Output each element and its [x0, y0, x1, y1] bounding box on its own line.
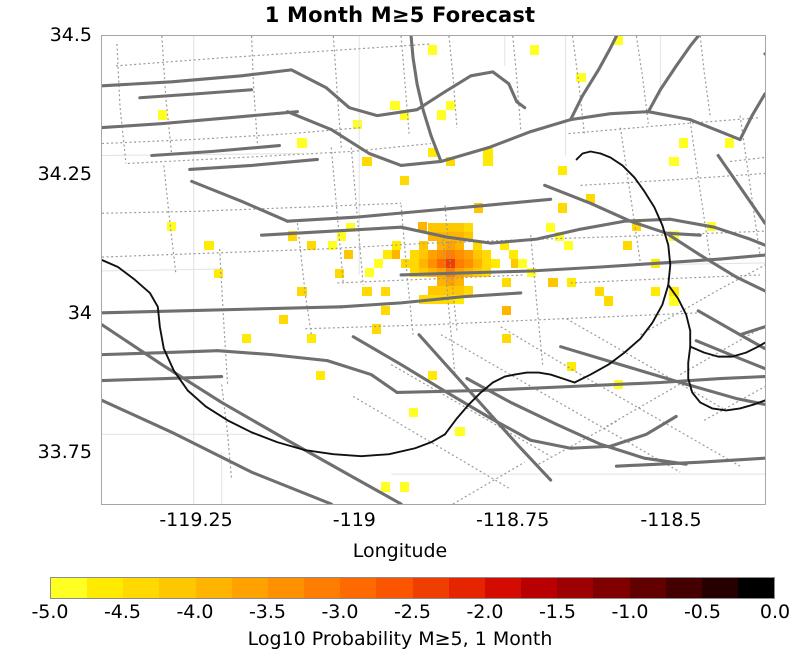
colorbar-swatch — [593, 578, 629, 598]
coastline — [102, 152, 765, 457]
y-tick-label: 33.75 — [0, 441, 92, 463]
colorbar-swatch — [232, 578, 268, 598]
x-tick-label: -118.5 — [611, 509, 731, 531]
colorbar-swatch — [413, 578, 449, 598]
colorbar-label: Log10 Probability M≥5, 1 Month — [0, 628, 800, 650]
map-axes[interactable] — [101, 35, 766, 505]
colorbar-swatch — [268, 578, 304, 598]
colorbar-swatch — [376, 578, 412, 598]
map-overlay-layer — [102, 36, 765, 504]
colorbar-swatch — [557, 578, 593, 598]
x-tick-label: -118.75 — [453, 509, 573, 531]
colorbar-swatch — [702, 578, 738, 598]
y-tick-label: 34.5 — [0, 24, 92, 46]
colorbar-swatch — [485, 578, 521, 598]
colorbar-swatch — [666, 578, 702, 598]
colorbar-swatch — [87, 578, 123, 598]
chart-title: 1 Month M≥5 Forecast — [0, 3, 800, 27]
y-tick-label: 34.25 — [0, 163, 92, 185]
faint-grid-lines — [102, 36, 765, 504]
colorbar-swatch — [159, 578, 195, 598]
x-axis-label: Longitude — [0, 540, 800, 562]
x-tick-label: -119.25 — [136, 509, 256, 531]
colorbar-swatch — [51, 578, 87, 598]
colorbar-swatch — [123, 578, 159, 598]
figure-canvas: 1 Month M≥5 Forecast — [0, 0, 800, 662]
colorbar-tick-label: 0.0 — [725, 601, 800, 623]
colorbar-swatch — [304, 578, 340, 598]
colorbar-swatch — [521, 578, 557, 598]
colorbar-swatch — [738, 578, 774, 598]
colorbar-swatch — [630, 578, 666, 598]
colorbar-swatch — [196, 578, 232, 598]
colorbar[interactable] — [50, 577, 775, 599]
x-tick-label: -119 — [294, 509, 414, 531]
colorbar-swatch — [340, 578, 376, 598]
y-tick-label: 34 — [0, 302, 92, 324]
colorbar-swatch — [449, 578, 485, 598]
